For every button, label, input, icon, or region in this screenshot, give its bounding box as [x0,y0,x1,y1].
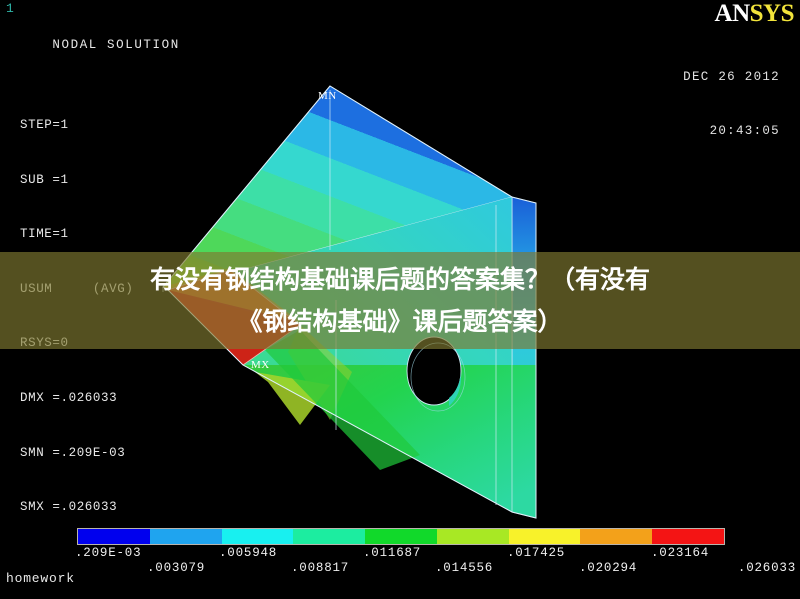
legend-swatch-7 [580,529,652,544]
contour-legend-labels: .209E-03.003079.005948.008817.011687.014… [0,546,800,586]
legend-tick-0: .209E-03 [75,546,141,560]
legend-tick-6: .017425 [507,546,565,560]
max-node-label: MX [251,360,270,371]
legend-swatch-6 [509,529,581,544]
legend-tick-4: .011687 [363,546,421,560]
contour-color-legend [77,528,725,545]
min-node-label: MN [318,91,337,102]
legend-tick-7: .020294 [579,561,637,575]
legend-swatch-5 [437,529,509,544]
legend-tick-8: .023164 [651,546,709,560]
footer-note: homework [6,571,75,586]
legend-swatch-2 [222,529,294,544]
legend-tick-2: .005948 [219,546,277,560]
legend-tick-3: .008817 [291,561,349,575]
legend-tick-5: .014556 [435,561,493,575]
ansys-plot-window: 1 NODAL SOLUTION STEP=1 SUB =1 TIME=1 US… [0,0,800,599]
watermark-line-1: 有没有钢结构基础课后题的答案集？（有没有 [150,259,650,301]
legend-swatch-8 [652,529,724,544]
legend-swatch-4 [365,529,437,544]
watermark-line-2: 《钢结构基础》课后题答案） [237,301,562,343]
legend-swatch-3 [293,529,365,544]
legend-tick-1: .003079 [147,561,205,575]
watermark-overlay: 有没有钢结构基础课后题的答案集？（有没有 《钢结构基础》课后题答案） [0,252,800,349]
legend-tick-9: .026033 [738,561,796,575]
legend-swatch-1 [150,529,222,544]
legend-swatch-0 [78,529,150,544]
